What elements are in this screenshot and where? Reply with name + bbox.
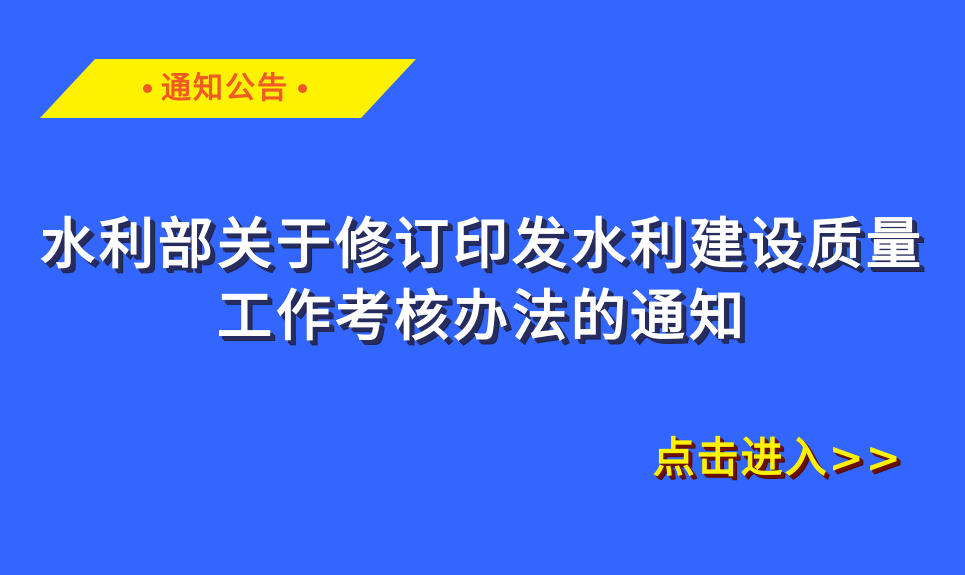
page-title-line-2: 工作考核办法的通知 xyxy=(0,280,965,352)
banner-parallelogram-shape xyxy=(0,59,470,118)
notice-announcement-poster: 通知公告 水利部关于修订印发水利建设质量 工作考核办法的通知 点击进入>> xyxy=(0,0,965,575)
cta-container: 点击进入>> xyxy=(0,432,965,484)
page-title: 水利部关于修订印发水利建设质量 工作考核办法的通知 xyxy=(0,208,965,352)
announcement-banner: 通知公告 xyxy=(0,59,470,118)
page-title-line-1: 水利部关于修订印发水利建设质量 xyxy=(0,208,965,280)
enter-link[interactable]: 点击进入>> xyxy=(653,432,903,484)
